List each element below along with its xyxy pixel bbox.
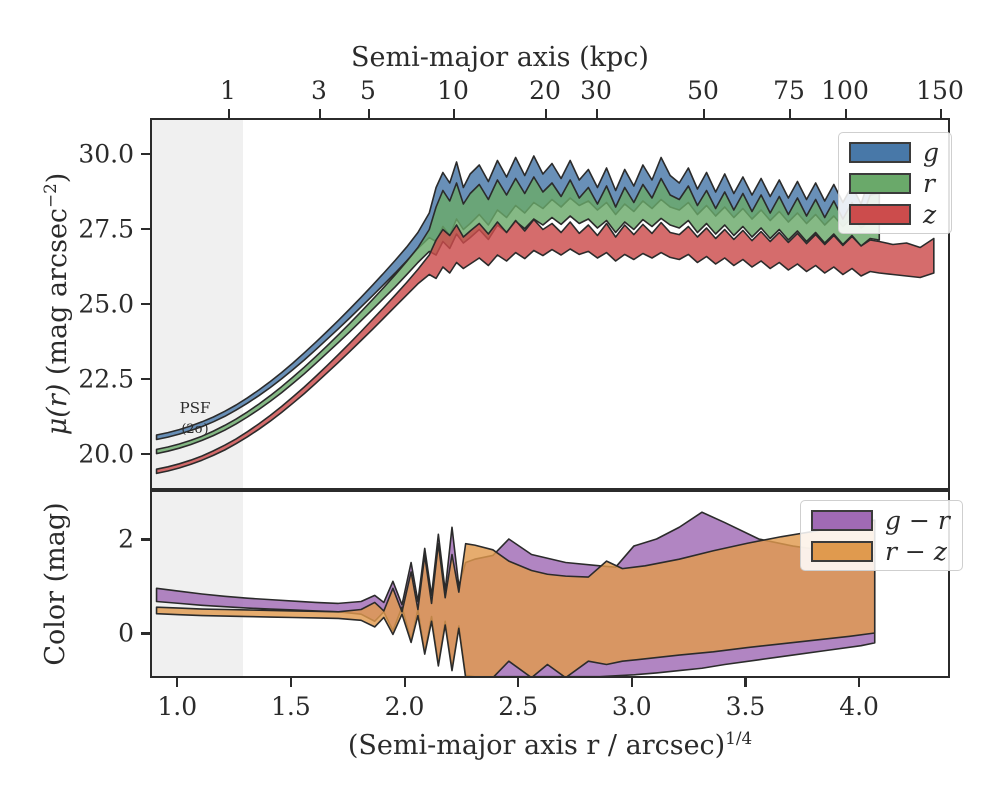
- x-tick-mark-5: [744, 678, 746, 687]
- top-tick-mark-9: [940, 109, 942, 118]
- x-axis-label-text: (Semi-major axis r / arcsec): [348, 730, 725, 761]
- surface-brightness-y-label: μ(r) (mag arcsec−2): [40, 173, 73, 436]
- x-tick-label-0: 1.0: [157, 692, 197, 721]
- x-tick-label-5: 3.5: [726, 692, 766, 721]
- legend-label-r: r: [923, 171, 935, 196]
- x-tick-label-4: 3.0: [612, 692, 652, 721]
- x-tick-label-3: 2.5: [498, 692, 538, 721]
- top-tick-mark-6: [703, 109, 705, 118]
- top-tick-label-2: 5: [360, 76, 376, 105]
- legend-label-g: g: [923, 140, 939, 165]
- surface-brightness-legend[interactable]: g r z: [838, 132, 952, 234]
- top-tick-label-9: 150: [916, 76, 964, 105]
- legend-label-r-minus-z: r − z: [885, 539, 947, 564]
- sb-y-tick-mark-3: [141, 228, 150, 230]
- legend-label-g-minus-r: g − r: [885, 508, 950, 533]
- top-tick-label-7: 75: [773, 76, 805, 105]
- legend-item-r-minus-z[interactable]: r − z: [811, 540, 950, 562]
- top-tick-mark-8: [845, 109, 847, 118]
- x-tick-label-2: 2.0: [385, 692, 425, 721]
- top-tick-label-5: 30: [580, 76, 612, 105]
- surface-brightness-panel: PSF (2σ): [150, 118, 950, 490]
- color-y-label: Color (mag): [40, 502, 71, 665]
- x-axis-label-exponent: 1/4: [725, 728, 752, 748]
- color-legend[interactable]: g − r r − z: [800, 500, 963, 571]
- sb-y-tick-mark-4: [141, 153, 150, 155]
- legend-item-z[interactable]: z: [849, 203, 939, 225]
- x-axis-label: (Semi-major axis r / arcsec)1/4: [348, 728, 752, 761]
- mu-units-close: ): [42, 173, 73, 184]
- color-y-tick-mark-0: [141, 632, 150, 634]
- legend-swatch-r: [849, 173, 911, 194]
- legend-swatch-g: [849, 142, 911, 163]
- psf-annotation: PSF (2σ): [180, 398, 211, 439]
- mu-symbol: μ(r): [42, 384, 73, 436]
- x-tick-label-1: 1.5: [271, 692, 311, 721]
- top-tick-mark-7: [789, 109, 791, 118]
- band-series-r: [157, 177, 880, 454]
- top-tick-mark-0: [228, 109, 230, 118]
- legend-item-r[interactable]: r: [849, 172, 939, 194]
- sb-y-tick-label-3: 27.5: [78, 215, 134, 244]
- sb-y-tick-label-2: 25.0: [78, 290, 134, 319]
- legend-label-z: z: [923, 202, 936, 227]
- top-tick-mark-2: [368, 109, 370, 118]
- top-tick-label-6: 50: [687, 76, 719, 105]
- legend-swatch-g-minus-r: [811, 510, 873, 531]
- x-tick-label-6: 4.0: [839, 692, 879, 721]
- top-tick-label-1: 3: [311, 76, 327, 105]
- top-tick-label-4: 20: [529, 76, 561, 105]
- psf-annotation-line1: PSF: [180, 399, 211, 417]
- top-tick-mark-3: [453, 109, 455, 118]
- sb-y-tick-label-1: 22.5: [78, 365, 134, 394]
- sb-y-tick-mark-0: [141, 453, 150, 455]
- x-tick-mark-6: [858, 678, 860, 687]
- legend-item-g[interactable]: g: [849, 141, 939, 163]
- color-y-tick-mark-1: [141, 538, 150, 540]
- sb-y-tick-mark-1: [141, 378, 150, 380]
- color-y-tick-label-1: 2: [118, 525, 134, 554]
- surface-brightness-plot: [152, 120, 948, 488]
- top-tick-label-3: 10: [437, 76, 469, 105]
- x-tick-mark-4: [631, 678, 633, 687]
- sb-y-tick-label-4: 30.0: [78, 140, 134, 169]
- psf-annotation-line2: (2σ): [181, 422, 208, 437]
- top-tick-label-0: 1: [220, 76, 236, 105]
- legend-swatch-z: [849, 204, 911, 225]
- sb-y-tick-label-0: 20.0: [78, 440, 134, 469]
- x-tick-mark-0: [176, 678, 178, 687]
- x-tick-mark-1: [290, 678, 292, 687]
- top-tick-mark-1: [319, 109, 321, 118]
- mu-units-exponent: −2: [40, 183, 60, 208]
- mu-units-open: (mag arcsec: [42, 208, 73, 375]
- legend-swatch-r-minus-z: [811, 541, 873, 562]
- top-axis-label: Semi-major axis (kpc): [351, 42, 649, 73]
- figure-canvas: Semi-major axis (kpc) 135102030507510015…: [0, 0, 1000, 800]
- band-series-z: [157, 220, 934, 474]
- top-tick-label-8: 100: [821, 76, 869, 105]
- x-tick-mark-2: [404, 678, 406, 687]
- legend-item-g-minus-r[interactable]: g − r: [811, 509, 950, 531]
- color-y-tick-label-0: 0: [118, 619, 134, 648]
- top-tick-mark-5: [596, 109, 598, 118]
- top-tick-mark-4: [545, 109, 547, 118]
- x-tick-mark-3: [517, 678, 519, 687]
- sb-y-tick-mark-2: [141, 303, 150, 305]
